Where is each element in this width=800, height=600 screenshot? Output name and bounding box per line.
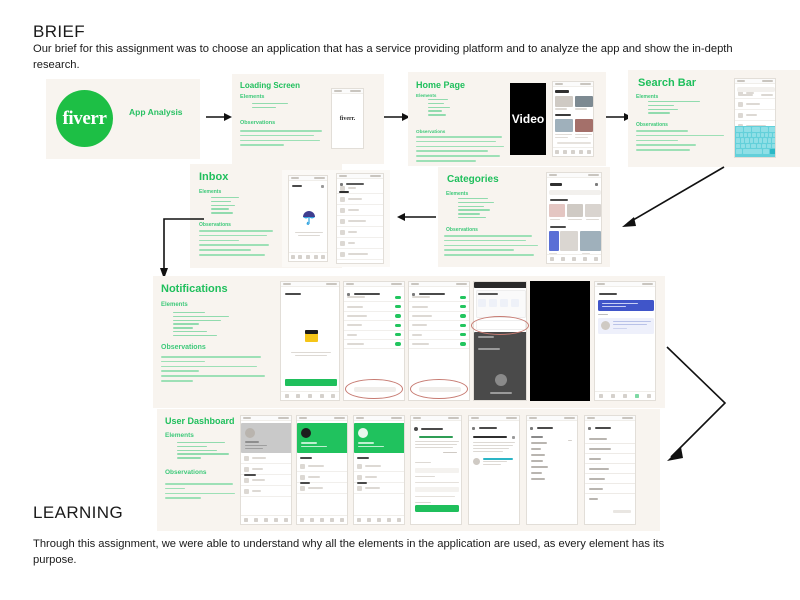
onscreen-keyboard[interactable]: [735, 126, 776, 157]
annotation-ellipse-3: [471, 316, 529, 335]
brief-heading: BRIEF: [33, 22, 85, 42]
phone-home-page: [552, 81, 594, 157]
dashboard-elements-label: Elements: [165, 432, 194, 439]
user-dashboard-title: User Dashboard: [165, 416, 235, 426]
phone-dashboard-settings-1: [526, 415, 578, 525]
arrow-left-5-icon: [396, 210, 436, 224]
inbox-title: Inbox: [199, 171, 228, 183]
loading-observations-lines: [240, 130, 322, 149]
phone-system-share-sheet: [473, 281, 527, 401]
categories-observations-lines: [444, 235, 538, 259]
learning-paragraph: Through this assignment, we were able to…: [33, 536, 693, 568]
phone-dashboard-form: [410, 415, 462, 525]
inbox-empty-illustration: [301, 209, 317, 227]
loading-elements-label: Elements: [240, 94, 264, 100]
notifications-cta-button[interactable]: [285, 379, 337, 386]
notifications-observations-lines: [161, 356, 265, 385]
card-search-bar[interactable]: Search Bar Elements Observations: [628, 70, 800, 167]
arrow-diagonal-4-icon: [616, 165, 728, 231]
card-notifications[interactable]: Notifications Elements Observations: [153, 276, 665, 408]
categories-title: Categories: [447, 174, 499, 185]
phone-dashboard-community: [468, 415, 520, 525]
home-elements-lines: [420, 99, 450, 118]
dashboard-elements-lines: [169, 442, 229, 461]
card-home-page[interactable]: Home Page Elements Observations Video: [408, 72, 606, 166]
dashboard-observations-label: Observations: [165, 469, 207, 476]
arrow-down-6-icon: [160, 218, 206, 280]
dashboard-submit-button[interactable]: [415, 505, 459, 512]
phone-dashboard-logged-out: [240, 415, 292, 525]
home-observations-label: Observations: [416, 129, 445, 134]
poster-canvas: BRIEF Our brief for this assignment was …: [0, 0, 800, 600]
categories-elements-lines: [450, 198, 494, 221]
home-page-title: Home Page: [416, 80, 465, 90]
inbox-elements-label: Elements: [199, 189, 221, 195]
phone-categories: [546, 172, 602, 264]
phone-inbox-list: [336, 173, 384, 264]
arrow-right-2-icon: [384, 110, 410, 124]
fiverr-logo-icon: fiverr: [56, 90, 113, 147]
card-inbox-mocks: [282, 170, 390, 267]
brief-paragraph: Our brief for this assignment was to cho…: [33, 41, 733, 73]
annotation-ellipse-2: [410, 379, 468, 399]
annotation-ellipse-1: [345, 379, 403, 399]
arrow-right-1-icon: [206, 110, 232, 124]
arrow-chevron-7-icon: [665, 345, 733, 465]
phone-dashboard-profile-1: [296, 415, 348, 525]
notifications-title: Notifications: [161, 283, 228, 295]
notifications-elements-lines: [165, 312, 229, 338]
inbox-elements-lines: [203, 197, 239, 216]
home-elements-label: Elements: [416, 93, 436, 98]
search-bar-title: Search Bar: [638, 77, 696, 89]
dashboard-observations-lines: [165, 483, 235, 502]
search-elements-lines: [640, 101, 700, 116]
notifications-elements-label: Elements: [161, 302, 188, 308]
phone-notification-feed: [594, 281, 656, 401]
card-categories[interactable]: Categories Elements Observations: [438, 167, 610, 267]
phone-home-video: Video: [510, 83, 546, 155]
card-loading-screen[interactable]: Loading Screen Elements Observations fiv…: [232, 74, 384, 164]
phone-notifications-empty: [280, 281, 340, 401]
categories-observations-label: Observations: [446, 227, 478, 233]
search-observations-label: Observations: [636, 122, 668, 128]
phone-dashboard-settings-2: [584, 415, 636, 525]
loading-elements-lines: [244, 103, 292, 111]
phone-dashboard-profile-2: [353, 415, 405, 525]
fiverr-splash-logo: fiverr.: [332, 89, 363, 148]
phone-black-screen: [530, 281, 590, 401]
loading-observations-label: Observations: [240, 120, 275, 126]
loading-screen-title: Loading Screen: [240, 81, 300, 90]
phone-search-bar: [734, 78, 776, 158]
video-label: Video: [511, 84, 545, 154]
phone-loading-screen: fiverr.: [331, 88, 364, 149]
categories-elements-label: Elements: [446, 191, 468, 197]
avatar: [301, 428, 311, 438]
search-elements-label: Elements: [636, 94, 658, 100]
notifications-observations-label: Observations: [161, 344, 206, 351]
learning-heading: LEARNING: [33, 503, 123, 523]
card-app-analysis[interactable]: fiverr App Analysis: [46, 79, 200, 159]
app-analysis-label: App Analysis: [129, 107, 183, 117]
phone-inbox-empty: [288, 175, 328, 262]
avatar: [245, 428, 255, 438]
home-observations-lines: [416, 136, 504, 165]
fiverr-logo-text: fiverr: [62, 108, 106, 130]
search-observations-lines: [636, 130, 724, 154]
inbox-observations-lines: [199, 230, 273, 259]
card-user-dashboard[interactable]: User Dashboard Elements Observations: [157, 409, 660, 531]
avatar: [358, 428, 368, 438]
